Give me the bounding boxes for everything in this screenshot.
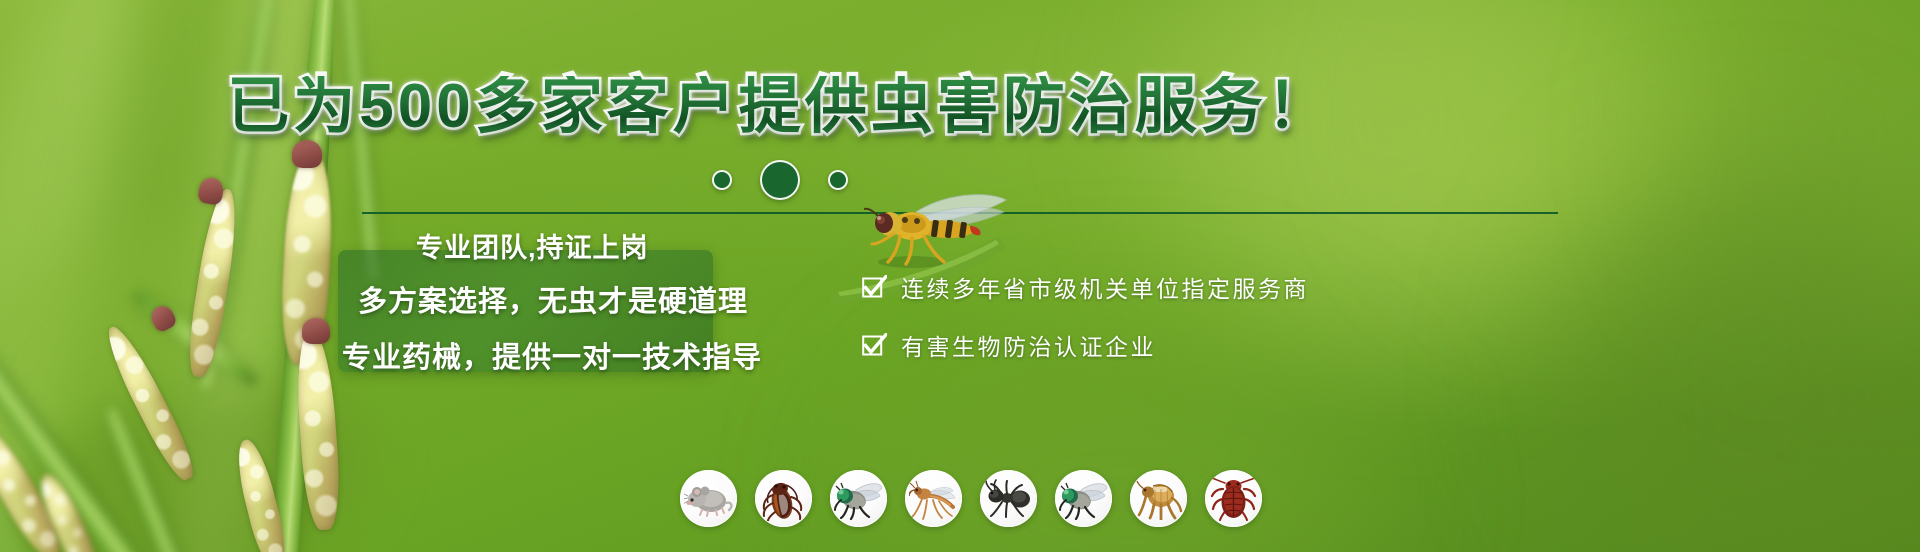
list-item: 有害生物防治认证企业 (862, 328, 1309, 362)
mouse-icon[interactable] (680, 470, 737, 527)
mosquito-icon[interactable] (905, 470, 962, 527)
decorative-dots (0, 160, 1560, 200)
page-title: 已为500多家客户提供虫害防治服务！ (0, 76, 1560, 138)
dot-small-icon (712, 170, 732, 190)
credential-label: 连续多年省市级机关单位指定服务商 (901, 270, 1309, 304)
pest-control-hero-banner: 已为500多家客户提供虫害防治服务！ 已为500多家客户提供虫害防治服务！ 专业… (0, 0, 1920, 552)
bedbug-icon[interactable] (1205, 470, 1262, 527)
checkbox-check-icon (862, 333, 887, 358)
plant-bud-tip (302, 318, 330, 344)
fly-icon[interactable] (1055, 470, 1112, 527)
list-item: 连续多年省市级机关单位指定服务商 (862, 270, 1309, 304)
plant-flower-spike (183, 187, 242, 379)
feature-panel (338, 250, 713, 372)
checkbox-check-icon (862, 275, 887, 300)
dot-large-icon (760, 160, 800, 200)
plant-flower-spike (99, 321, 201, 485)
credentials-list: 连续多年省市级机关单位指定服务商 有害生物防治认证企业 (862, 270, 1309, 386)
fly-icon[interactable] (830, 470, 887, 527)
credential-label: 有害生物防治认证企业 (901, 328, 1156, 362)
flea-icon[interactable] (1130, 470, 1187, 527)
cockroach-icon[interactable] (755, 470, 812, 527)
pest-icon-row (680, 470, 1262, 527)
ant-icon[interactable] (980, 470, 1037, 527)
